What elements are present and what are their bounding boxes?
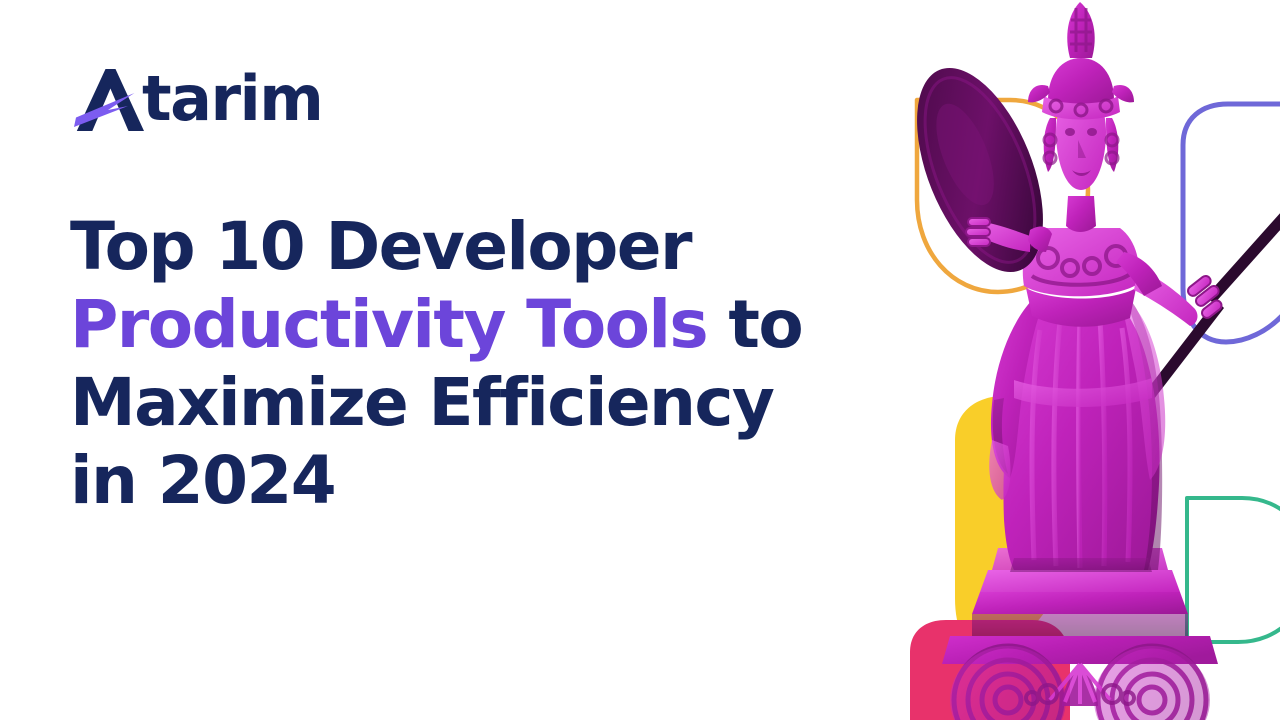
atarim-logo-wordmark: tarim: [142, 68, 322, 132]
headline-line-2-tail: to: [707, 286, 802, 363]
purple-outline-shield-shape: [1183, 104, 1280, 342]
headline-line-3: Maximize Efficiency: [70, 364, 773, 441]
slide-canvas: tarim Top 10 Developer Productivity Tool…: [0, 0, 1280, 720]
athena-statue-on-ionic-column-image: [891, 2, 1280, 720]
headline-line-4: in 2024: [70, 442, 335, 519]
atarim-logo[interactable]: tarim: [72, 68, 322, 132]
atarim-a-logomark-icon: [72, 69, 148, 131]
teal-outline-blob-shape: [1187, 498, 1280, 642]
page-title: Top 10 Developer Productivity Tools to M…: [70, 208, 850, 520]
headline-line-1: Top 10 Developer: [70, 208, 691, 285]
hero-artwork: [880, 0, 1280, 720]
headline-accent-phrase: Productivity Tools: [70, 286, 707, 363]
